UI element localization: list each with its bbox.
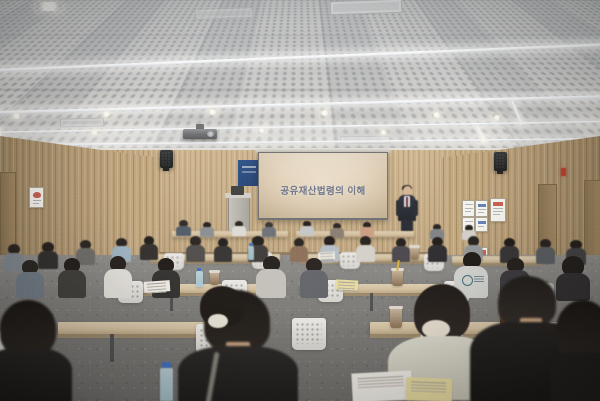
ceiling-downlight <box>208 109 217 115</box>
handout-paper-yellow-front <box>406 377 453 401</box>
right-notice-b <box>475 200 488 217</box>
lectern-monitor <box>231 186 244 195</box>
ceiling-downlight <box>91 130 98 135</box>
water-bottle <box>248 246 254 260</box>
presenter-tie <box>406 197 408 207</box>
ceiling-projector <box>183 126 217 139</box>
attendee-r2-4 <box>214 238 232 260</box>
right-rear-door[interactable] <box>584 180 600 260</box>
attendee-r1-6 <box>330 223 344 236</box>
ceiling-downlight <box>380 130 387 135</box>
ceiling-downlight <box>102 111 111 117</box>
foreground-attendee-left-edge <box>0 300 72 401</box>
attendee-r1-7 <box>360 222 374 235</box>
foreground-attendee-bun <box>186 286 260 358</box>
right-notice-a <box>462 200 475 217</box>
attendee-r2-6 <box>290 238 308 260</box>
attendee-r2-10 <box>428 237 447 260</box>
sign-graphic <box>478 204 486 207</box>
bottle-cap <box>197 268 201 271</box>
poster-graphic <box>493 202 503 206</box>
lecture-hall-photograph: 공유재산법령의 이해 <box>0 0 600 401</box>
right-notice-d <box>475 217 488 232</box>
attendee-torso <box>300 226 314 236</box>
presenter-arm-left <box>396 200 400 216</box>
right-poster-large <box>490 198 506 222</box>
handout-paper <box>144 280 171 293</box>
attendee-r1-4 <box>262 222 276 235</box>
speaker-mount-left <box>163 168 169 171</box>
desk-leg <box>370 293 373 311</box>
attendee-torso <box>0 348 72 401</box>
presenter-arm-right <box>414 200 418 216</box>
ceiling-downlight <box>320 110 329 116</box>
attendee-torso <box>550 352 600 401</box>
ceiling-tile-blocks <box>0 0 600 158</box>
ceiling-vent <box>60 118 104 128</box>
ceiling-downlight <box>480 138 486 142</box>
handout-paper-front <box>351 370 412 401</box>
attendee-r1-1 <box>176 220 191 234</box>
attendee-torso <box>356 245 375 262</box>
desk-leg <box>110 334 114 362</box>
ceiling-downlight <box>258 128 265 133</box>
sign-text-line <box>493 214 500 215</box>
attendee-torso <box>428 245 447 262</box>
attendee-torso <box>536 247 555 264</box>
attendee-torso <box>16 272 44 298</box>
attendee-torso <box>392 246 410 262</box>
sign-text-line <box>465 221 473 222</box>
sign-text-line <box>33 200 41 201</box>
sign-text-line <box>478 209 486 210</box>
attendee-r1-5 <box>300 221 314 235</box>
attendee-torso <box>186 245 205 262</box>
attendee-r2-3 <box>186 236 205 260</box>
attendee-torso <box>58 270 86 298</box>
ceiling-vent <box>195 7 253 20</box>
sign-text-line <box>493 211 503 212</box>
coffee-cup <box>410 247 419 260</box>
attendee-r1-2 <box>200 222 214 235</box>
hair-scrunchie <box>208 314 228 328</box>
handout-paper-yellow <box>336 279 358 290</box>
attendee-hair <box>556 300 600 360</box>
ceiling-downlight <box>432 112 441 118</box>
ceiling-downlight <box>12 113 21 119</box>
sign-text-line <box>33 203 39 204</box>
attendee-r3-6 <box>300 258 328 296</box>
attendee-r3-3 <box>104 256 132 296</box>
sign-text-line <box>478 226 484 227</box>
wall-speaker-right <box>494 152 507 171</box>
attendee-r1-3 <box>232 221 246 235</box>
sign-text-line <box>465 204 473 205</box>
bottle-cap <box>162 362 171 368</box>
sign-text-line <box>493 208 503 209</box>
sign-text-line <box>465 208 473 209</box>
sign-graphic <box>478 221 486 224</box>
attendee-r3-2 <box>58 258 86 296</box>
slide-title: 공유재산법령의 이해 <box>280 183 365 197</box>
projector-lens-icon <box>207 131 214 137</box>
bottle-cap <box>249 243 253 246</box>
attendee-r2-8 <box>356 236 375 260</box>
left-wall-notice-sign <box>29 187 44 208</box>
attendee-r2-9 <box>392 238 410 260</box>
cup-lid <box>209 270 220 273</box>
presenter <box>396 186 418 230</box>
attendee-r1-8 <box>430 224 444 237</box>
ceiling-downlight <box>36 2 62 11</box>
ceiling <box>0 0 600 158</box>
attendee-r2-2 <box>140 236 158 258</box>
attendee-torso <box>232 226 246 236</box>
fire-alarm-icon <box>561 168 566 176</box>
water-bottle <box>196 271 203 287</box>
speaker-mount-right <box>497 171 503 174</box>
attendee-torso <box>214 246 232 262</box>
wall-speaker-left <box>160 150 173 168</box>
attendee-torso <box>300 270 328 298</box>
ceiling-downlight <box>493 115 501 120</box>
sign-graphic <box>33 192 41 198</box>
ceiling-vent <box>330 0 402 15</box>
attendee-torso <box>176 226 191 236</box>
foreground-attendee-far-right <box>556 300 600 401</box>
sign-text-line <box>478 212 484 213</box>
attendee-r3-1 <box>16 260 44 296</box>
projection-screen: 공유재산법령의 이해 <box>259 153 387 218</box>
cup-lid <box>409 245 420 248</box>
coffee-cup <box>210 272 219 285</box>
attendee-torso <box>104 269 132 298</box>
sign-text-line <box>465 211 471 212</box>
attendee-r2-13 <box>536 239 555 262</box>
water-bottle-front <box>160 368 173 401</box>
